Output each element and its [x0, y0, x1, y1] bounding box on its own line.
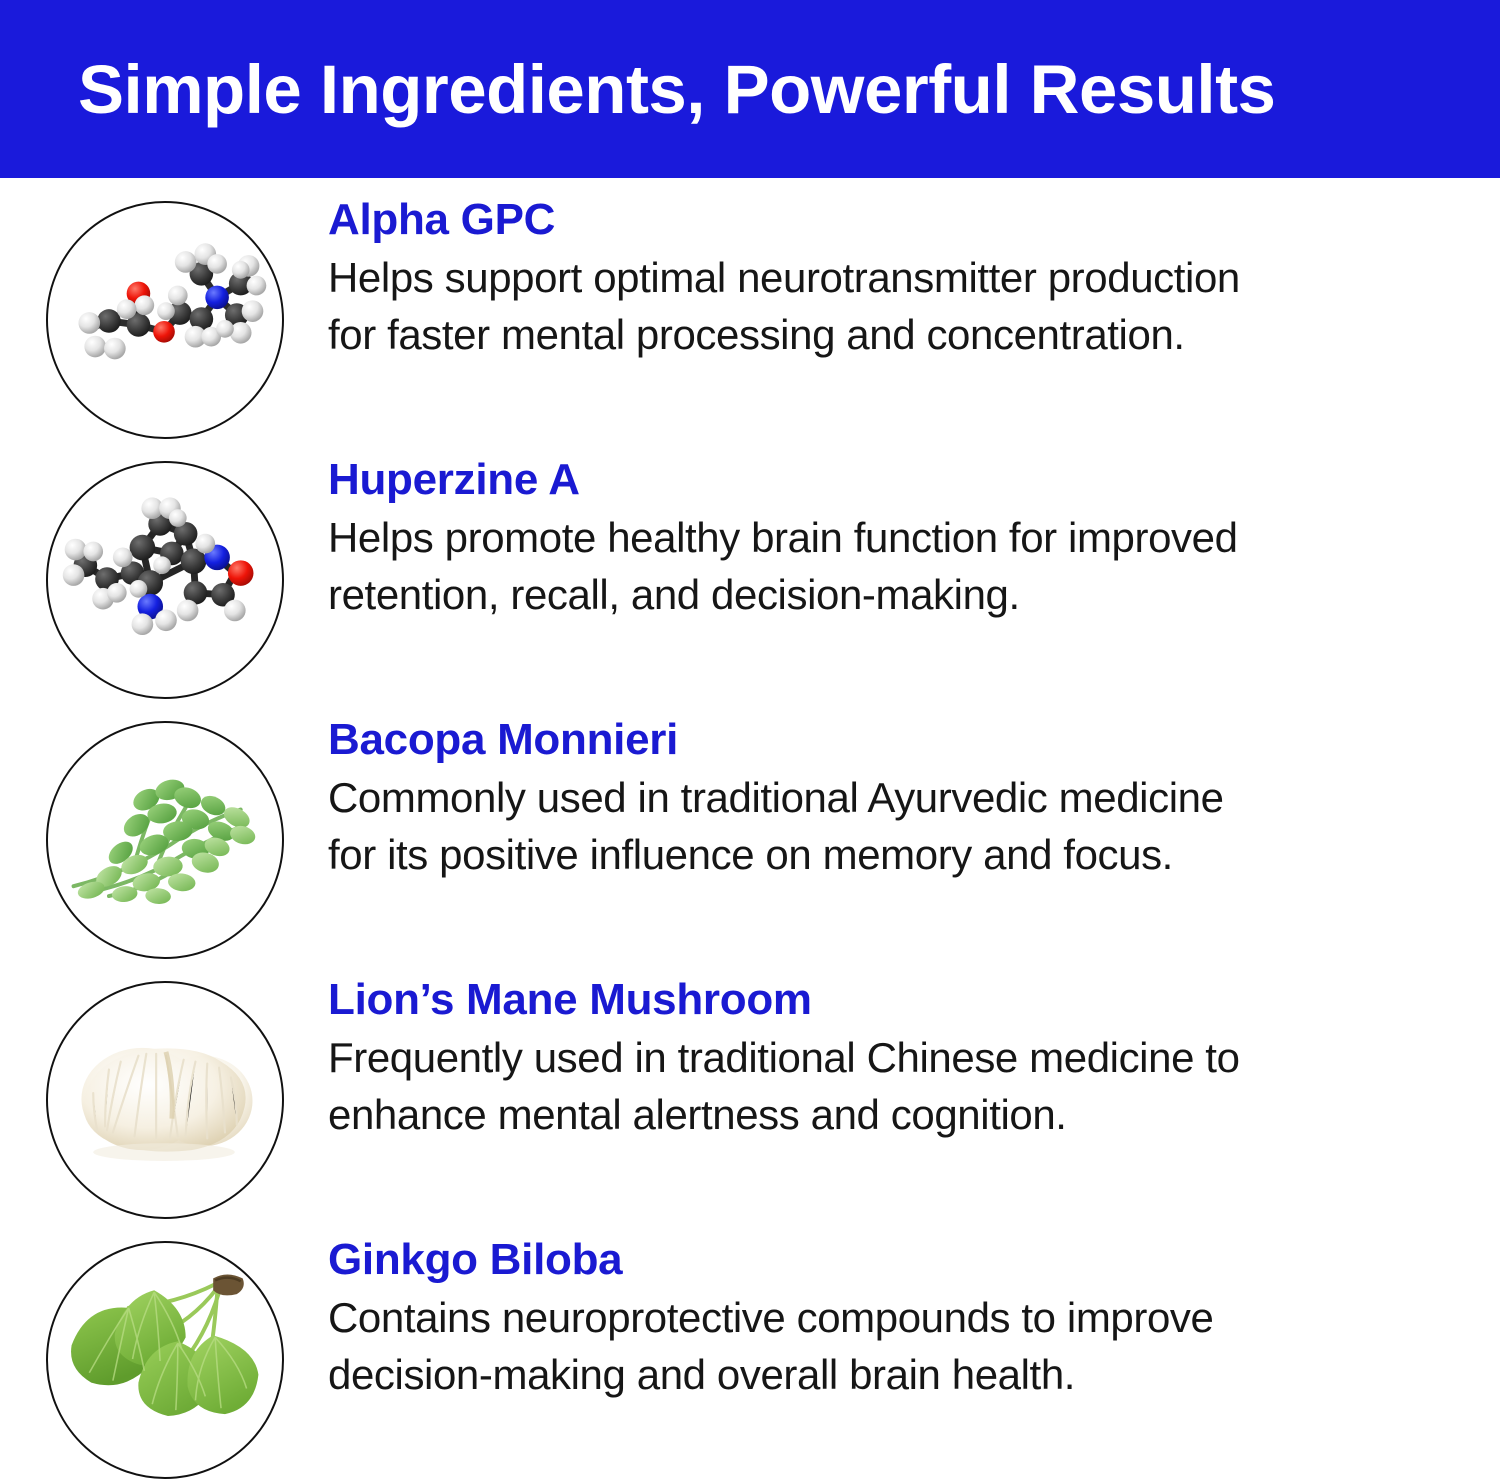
list-item: Alpha GPC Helps support optimal neurotra…	[0, 178, 1500, 438]
ingredient-text-block: Alpha GPC Helps support optimal neurotra…	[328, 178, 1438, 363]
ingredient-name: Ginkgo Biloba	[328, 1238, 1438, 1283]
ingredient-description: Contains neuroprotective compounds to im…	[328, 1289, 1438, 1403]
list-item: Ginkgo Biloba Contains neuroprotective c…	[0, 1218, 1500, 1462]
description-line: enhance mental alertness and cognition.	[328, 1086, 1438, 1143]
description-line: Frequently used in traditional Chinese m…	[328, 1029, 1438, 1086]
description-line: decision-making and overall brain health…	[328, 1346, 1438, 1403]
ingredient-list: Alpha GPC Helps support optimal neurotra…	[0, 178, 1500, 1462]
ingredient-name: Bacopa Monnieri	[328, 718, 1438, 763]
header-banner: Simple Ingredients, Powerful Results	[0, 0, 1500, 178]
ingredient-name: Huperzine A	[328, 458, 1438, 503]
ingredient-text-block: Ginkgo Biloba Contains neuroprotective c…	[328, 1218, 1438, 1403]
ingredient-text-block: Bacopa Monnieri Commonly used in traditi…	[328, 698, 1438, 883]
description-line: for faster mental processing and concent…	[328, 306, 1438, 363]
ginkgo-leaf-icon	[46, 1241, 284, 1479]
ingredient-name: Alpha GPC	[328, 198, 1438, 243]
ingredient-text-block: Lion’s Mane Mushroom Frequently used in …	[328, 958, 1438, 1143]
description-line: retention, recall, and decision-making.	[328, 566, 1438, 623]
ingredient-description: Commonly used in traditional Ayurvedic m…	[328, 769, 1438, 883]
ingredient-description: Helps support optimal neurotransmitter p…	[328, 249, 1438, 363]
description-line: Helps promote healthy brain function for…	[328, 509, 1438, 566]
description-line: Contains neuroprotective compounds to im…	[328, 1289, 1438, 1346]
ingredient-description: Helps promote healthy brain function for…	[328, 509, 1438, 623]
ingredient-text-block: Huperzine A Helps promote healthy brain …	[328, 438, 1438, 623]
ingredient-description: Frequently used in traditional Chinese m…	[328, 1029, 1438, 1143]
list-item: Lion’s Mane Mushroom Frequently used in …	[0, 958, 1500, 1218]
bacopa-herb-icon	[46, 721, 284, 959]
lions-mane-mushroom-icon	[46, 981, 284, 1219]
molecule-huperzine-a-icon	[46, 461, 284, 699]
list-item: Huperzine A Helps promote healthy brain …	[0, 438, 1500, 698]
list-item: Bacopa Monnieri Commonly used in traditi…	[0, 698, 1500, 958]
description-line: for its positive influence on memory and…	[328, 826, 1438, 883]
description-line: Commonly used in traditional Ayurvedic m…	[328, 769, 1438, 826]
ingredient-name: Lion’s Mane Mushroom	[328, 978, 1438, 1023]
molecule-alpha-gpc-icon	[46, 201, 284, 439]
page-title: Simple Ingredients, Powerful Results	[78, 55, 1275, 124]
description-line: Helps support optimal neurotransmitter p…	[328, 249, 1438, 306]
